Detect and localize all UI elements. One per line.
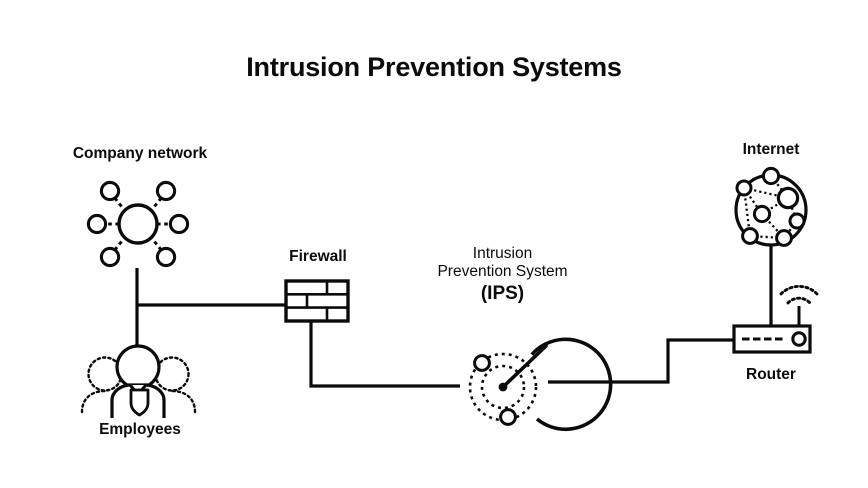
connector-firewall-to-ips bbox=[311, 320, 460, 386]
brick-wall-icon bbox=[286, 281, 348, 321]
people-group-shield-icon bbox=[82, 346, 195, 418]
globe-network-icon bbox=[736, 168, 806, 245]
diagram-canvas: Intrusion Prevention Systems Company net… bbox=[0, 0, 868, 488]
ips-label-line-1: Intrusion bbox=[473, 245, 532, 262]
network-hub-icon bbox=[88, 182, 187, 265]
router-wifi-icon bbox=[734, 286, 817, 352]
node-label-firewall: Firewall bbox=[250, 248, 386, 266]
node-label-internet: Internet bbox=[701, 141, 841, 159]
node-label-employees: Employees bbox=[58, 421, 222, 439]
ips-label-line-2: Prevention System bbox=[437, 263, 567, 280]
ips-label-abbreviation: (IPS) bbox=[395, 283, 610, 305]
node-label-ips: Intrusion Prevention System (IPS) bbox=[395, 245, 610, 305]
node-label-company-network: Company network bbox=[28, 145, 252, 163]
node-label-router: Router bbox=[700, 366, 842, 384]
radar-scan-icon bbox=[470, 339, 611, 429]
page-title: Intrusion Prevention Systems bbox=[0, 52, 868, 84]
